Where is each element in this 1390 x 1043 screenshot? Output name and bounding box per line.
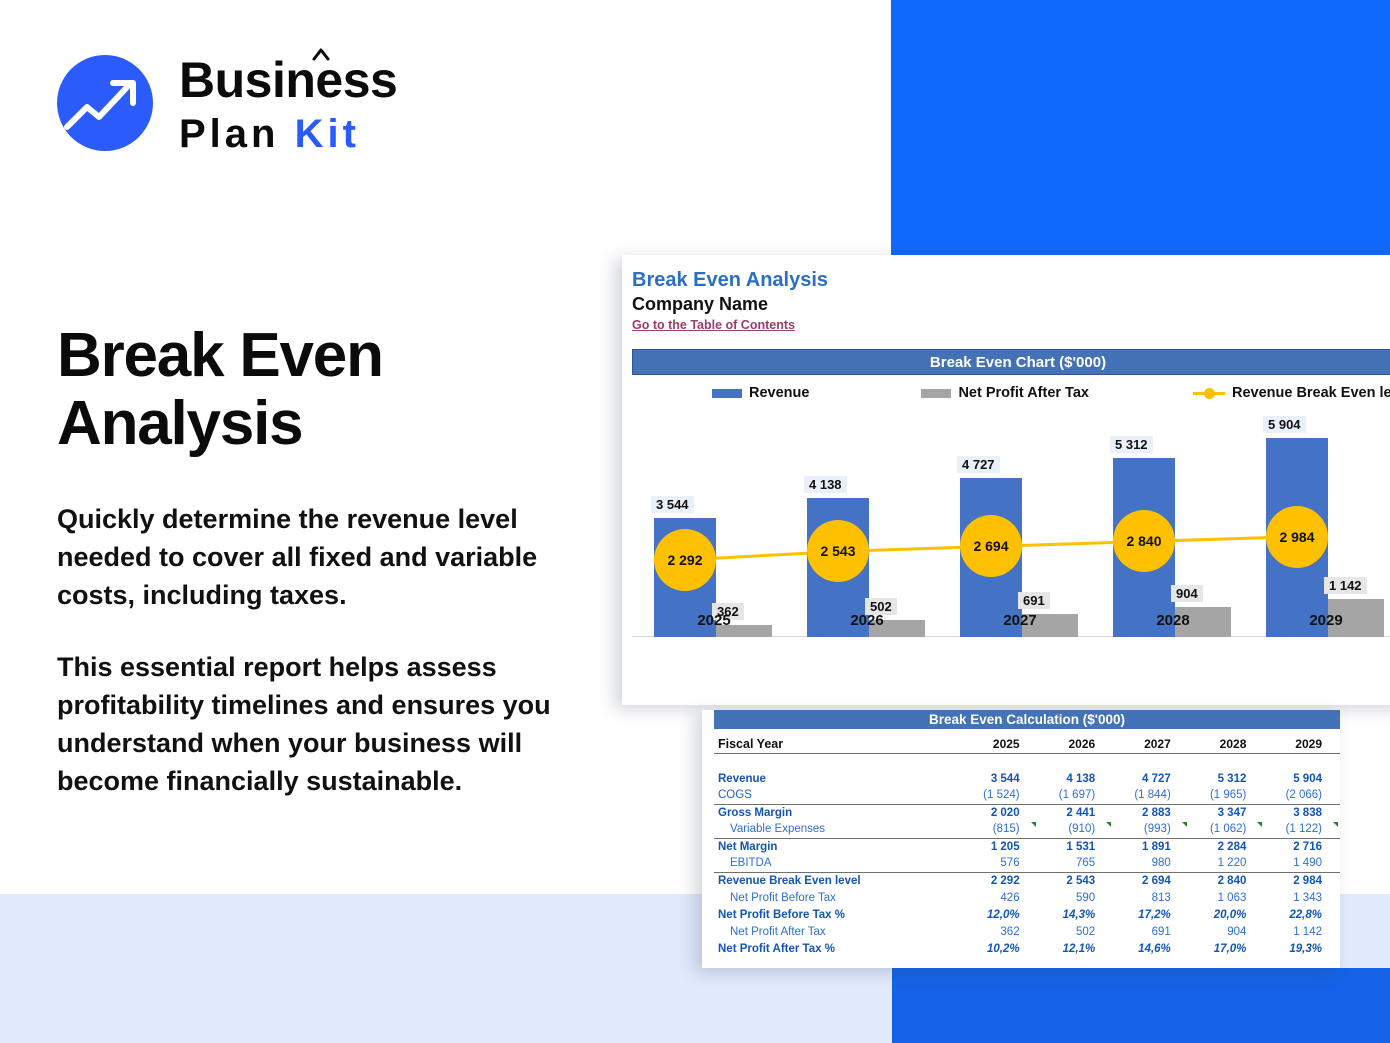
background-blue-bottom-panel [892, 968, 1390, 1043]
table-row-label: Variable Expenses [714, 821, 962, 838]
break-even-calculation-card: Break Even Calculation ($'000) Fiscal Ye… [702, 710, 1340, 968]
table-header-year-2029: 2029 [1264, 736, 1340, 753]
comment-marker-icon [1257, 822, 1262, 827]
bar-label-revenue-2025: 3 544 [651, 496, 694, 513]
bar-label-net-profit-2027: 691 [1018, 592, 1050, 609]
table-cell[interactable]: (2 066) [1264, 787, 1340, 804]
chart-xtick-2028: 2028 [1097, 612, 1249, 629]
table-cell[interactable]: 2 284 [1189, 838, 1265, 855]
table-cell[interactable]: 1 531 [1038, 838, 1114, 855]
table-row[interactable]: Variable Expenses(815)(910)(993)(1 062)(… [714, 821, 1340, 838]
table-cell[interactable]: 5 904 [1264, 770, 1340, 787]
table-row[interactable]: Net Profit After Tax %10,2%12,1%14,6%17,… [714, 940, 1340, 957]
table-cell[interactable]: 813 [1113, 889, 1189, 906]
table-cell[interactable]: 2 441 [1038, 804, 1114, 821]
legend-item-revenue[interactable]: Revenue [712, 385, 809, 401]
table-cell[interactable]: 691 [1113, 923, 1189, 940]
table-row-label: Net Profit After Tax [714, 923, 962, 940]
legend-swatch-break-even-line-icon [1193, 387, 1225, 399]
table-row-label: Gross Margin [714, 804, 962, 821]
table-cell[interactable]: (1 844) [1113, 787, 1189, 804]
break-even-table: Fiscal Year20252026202720282029Revenue3 … [714, 736, 1340, 957]
table-row-label: Revenue [714, 770, 962, 787]
bar-label-net-profit-2028: 904 [1171, 585, 1203, 602]
brand-line-business-text: Business [179, 52, 397, 108]
table-cell[interactable]: 1 220 [1189, 855, 1265, 872]
legend-item-net-profit-after-tax[interactable]: Net Profit After Tax [921, 385, 1089, 401]
brand-logo[interactable]: Business Plan Kit [57, 52, 457, 167]
brand-line-business: Business [179, 52, 397, 108]
table-banner: Break Even Calculation ($'000) [714, 710, 1340, 729]
chart-xtick-2029: 2029 [1250, 612, 1390, 629]
table-row-label: COGS [714, 787, 962, 804]
table-cell[interactable]: 14,6% [1113, 940, 1189, 957]
table-cell[interactable]: 12,0% [962, 906, 1038, 923]
break-even-marker-2026[interactable]: 2 543 [807, 520, 869, 582]
table-cell[interactable]: 1 343 [1264, 889, 1340, 906]
table-cell[interactable]: 1 205 [962, 838, 1038, 855]
table-cell[interactable]: (1 524) [962, 787, 1038, 804]
brand-line-plan-kit: Plan Kit [179, 110, 397, 158]
table-row[interactable]: EBITDA5767659801 2201 490 [714, 855, 1340, 872]
legend-label-revenue: Revenue [749, 385, 809, 401]
table-header-year-2028: 2028 [1189, 736, 1265, 753]
table-cell[interactable]: (1 965) [1189, 787, 1265, 804]
table-cell[interactable]: (1 697) [1038, 787, 1114, 804]
sheet-company-name: Company Name [632, 294, 768, 315]
break-even-marker-2025[interactable]: 2 292 [654, 529, 716, 591]
comment-marker-icon [1106, 822, 1111, 827]
table-cell[interactable]: 3 544 [962, 770, 1038, 787]
table-cell[interactable]: 1 490 [1264, 855, 1340, 872]
comment-marker-icon [1031, 822, 1036, 827]
chart-legend: Revenue Net Profit After Tax Revenue Bre… [632, 381, 1390, 405]
table-row[interactable]: Gross Margin2 0202 4412 8833 3473 838 [714, 804, 1340, 821]
table-row[interactable]: Net Margin1 2051 5311 8912 2842 716 [714, 838, 1340, 855]
table-cell[interactable]: (910) [1038, 821, 1114, 838]
caret-accent-icon [312, 47, 330, 61]
table-header-fiscal-year: Fiscal Year [714, 736, 962, 753]
table-header-year-2027: 2027 [1113, 736, 1189, 753]
hero-paragraph-2: This essential report helps assess profi… [57, 648, 567, 800]
table-cell[interactable]: 17,0% [1189, 940, 1265, 957]
table-row-label: Net Margin [714, 838, 962, 855]
page-title: Break Even Analysis [57, 322, 577, 458]
table-cell[interactable]: 14,3% [1038, 906, 1114, 923]
table-row-label: Revenue Break Even level [714, 872, 962, 889]
chart-banner: Break Even Chart ($'000) [632, 349, 1390, 375]
chart-xtick-2025: 2025 [638, 612, 790, 629]
table-row[interactable]: Net Profit Before Tax %12,0%14,3%17,2%20… [714, 906, 1340, 923]
brand-wordmark: Business Plan Kit [179, 52, 397, 158]
table-cell[interactable]: 1 063 [1189, 889, 1265, 906]
table-cell[interactable]: 904 [1189, 923, 1265, 940]
legend-item-revenue-break-even-level[interactable]: Revenue Break Even level [1193, 385, 1390, 401]
table-cell[interactable]: 426 [962, 889, 1038, 906]
table-cell[interactable]: 3 838 [1264, 804, 1340, 821]
table-header-year-2026: 2026 [1038, 736, 1114, 753]
bar-label-net-profit-2029: 1 142 [1324, 577, 1367, 594]
table-row[interactable]: COGS(1 524)(1 697)(1 844)(1 965)(2 066) [714, 787, 1340, 804]
table-cell[interactable]: (993) [1113, 821, 1189, 838]
background-blue-top-panel [891, 0, 1390, 256]
legend-swatch-revenue-icon [712, 389, 742, 398]
table-cell[interactable]: 2 543 [1038, 872, 1114, 889]
table-cell[interactable]: 3 347 [1189, 804, 1265, 821]
table-cell[interactable]: 2 716 [1264, 838, 1340, 855]
comment-marker-icon [1182, 822, 1187, 827]
table-body: Fiscal Year20252026202720282029Revenue3 … [714, 736, 1340, 957]
table-of-contents-link[interactable]: Go to the Table of Contents [632, 318, 795, 332]
bar-label-revenue-2026: 4 138 [804, 476, 847, 493]
table-cell[interactable]: (1 122) [1264, 821, 1340, 838]
table-row[interactable]: Revenue3 5444 1384 7275 3125 904 [714, 770, 1340, 787]
table-cell[interactable]: 2 883 [1113, 804, 1189, 821]
table-cell[interactable]: 576 [962, 855, 1038, 872]
brand-kit-text: Kit [295, 112, 360, 156]
table-cell[interactable]: 1 891 [1113, 838, 1189, 855]
legend-label-break-even: Revenue Break Even level [1232, 385, 1390, 401]
table-row-label: Net Profit Before Tax % [714, 906, 962, 923]
table-cell[interactable]: 5 312 [1189, 770, 1265, 787]
bar-label-revenue-2027: 4 727 [957, 456, 1000, 473]
chart-plot-area: 3 544 362 2025 4 138 502 2026 4 727 691 … [632, 413, 1390, 685]
table-cell[interactable]: 2 984 [1264, 872, 1340, 889]
table-cell[interactable]: 17,2% [1113, 906, 1189, 923]
table-cell[interactable]: 10,2% [962, 940, 1038, 957]
break-even-marker-2027[interactable]: 2 694 [960, 515, 1022, 577]
table-cell[interactable]: 980 [1113, 855, 1189, 872]
table-cell[interactable]: 2 840 [1189, 872, 1265, 889]
table-cell[interactable]: 765 [1038, 855, 1114, 872]
brand-plan-text: Plan [179, 112, 279, 156]
hero-paragraph-1: Quickly determine the revenue level need… [57, 500, 557, 614]
table-cell[interactable]: 2 694 [1113, 872, 1189, 889]
break-even-marker-2029[interactable]: 2 984 [1266, 506, 1328, 568]
legend-label-net-profit-after-tax: Net Profit After Tax [958, 385, 1089, 401]
table-cell[interactable]: 22,8% [1264, 906, 1340, 923]
table-row[interactable]: Revenue Break Even level2 2922 5432 6942… [714, 872, 1340, 889]
table-row-label: Net Profit After Tax % [714, 940, 962, 957]
table-cell[interactable]: 12,1% [1038, 940, 1114, 957]
bar-label-revenue-2028: 5 312 [1110, 436, 1153, 453]
table-cell[interactable]: 20,0% [1189, 906, 1265, 923]
table-spacer-row [714, 753, 1340, 770]
table-row[interactable]: Net Profit After Tax3625026919041 142 [714, 923, 1340, 940]
table-cell[interactable]: 19,3% [1264, 940, 1340, 957]
break-even-chart-card: Break Even Analysis Company Name Go to t… [622, 255, 1390, 705]
table-row-label: Net Profit Before Tax [714, 889, 962, 906]
table-cell[interactable]: 502 [1038, 923, 1114, 940]
table-cell[interactable]: 362 [962, 923, 1038, 940]
growth-arrow-circle-icon [57, 55, 153, 151]
sheet-title: Break Even Analysis [632, 269, 828, 292]
table-cell[interactable]: 590 [1038, 889, 1114, 906]
table-cell[interactable]: (815) [962, 821, 1038, 838]
table-cell[interactable]: 4 138 [1038, 770, 1114, 787]
table-cell[interactable]: 1 142 [1264, 923, 1340, 940]
table-header-year-2025: 2025 [962, 736, 1038, 753]
table-cell[interactable]: 2 292 [962, 872, 1038, 889]
chart-xtick-2027: 2027 [944, 612, 1096, 629]
table-row-label: EBITDA [714, 855, 962, 872]
legend-swatch-net-profit-icon [921, 389, 951, 398]
comment-marker-icon [1333, 822, 1338, 827]
bar-label-revenue-2029: 5 904 [1263, 416, 1306, 433]
table-cell[interactable]: 4 727 [1113, 770, 1189, 787]
table-cell[interactable]: 2 020 [962, 804, 1038, 821]
table-row[interactable]: Net Profit Before Tax4265908131 0631 343 [714, 889, 1340, 906]
slide-root: Business Plan Kit Break Even Analysis Qu… [0, 0, 1390, 1043]
table-header-row: Fiscal Year20252026202720282029 [714, 736, 1340, 753]
chart-xtick-2026: 2026 [791, 612, 943, 629]
table-cell[interactable]: (1 062) [1189, 821, 1265, 838]
